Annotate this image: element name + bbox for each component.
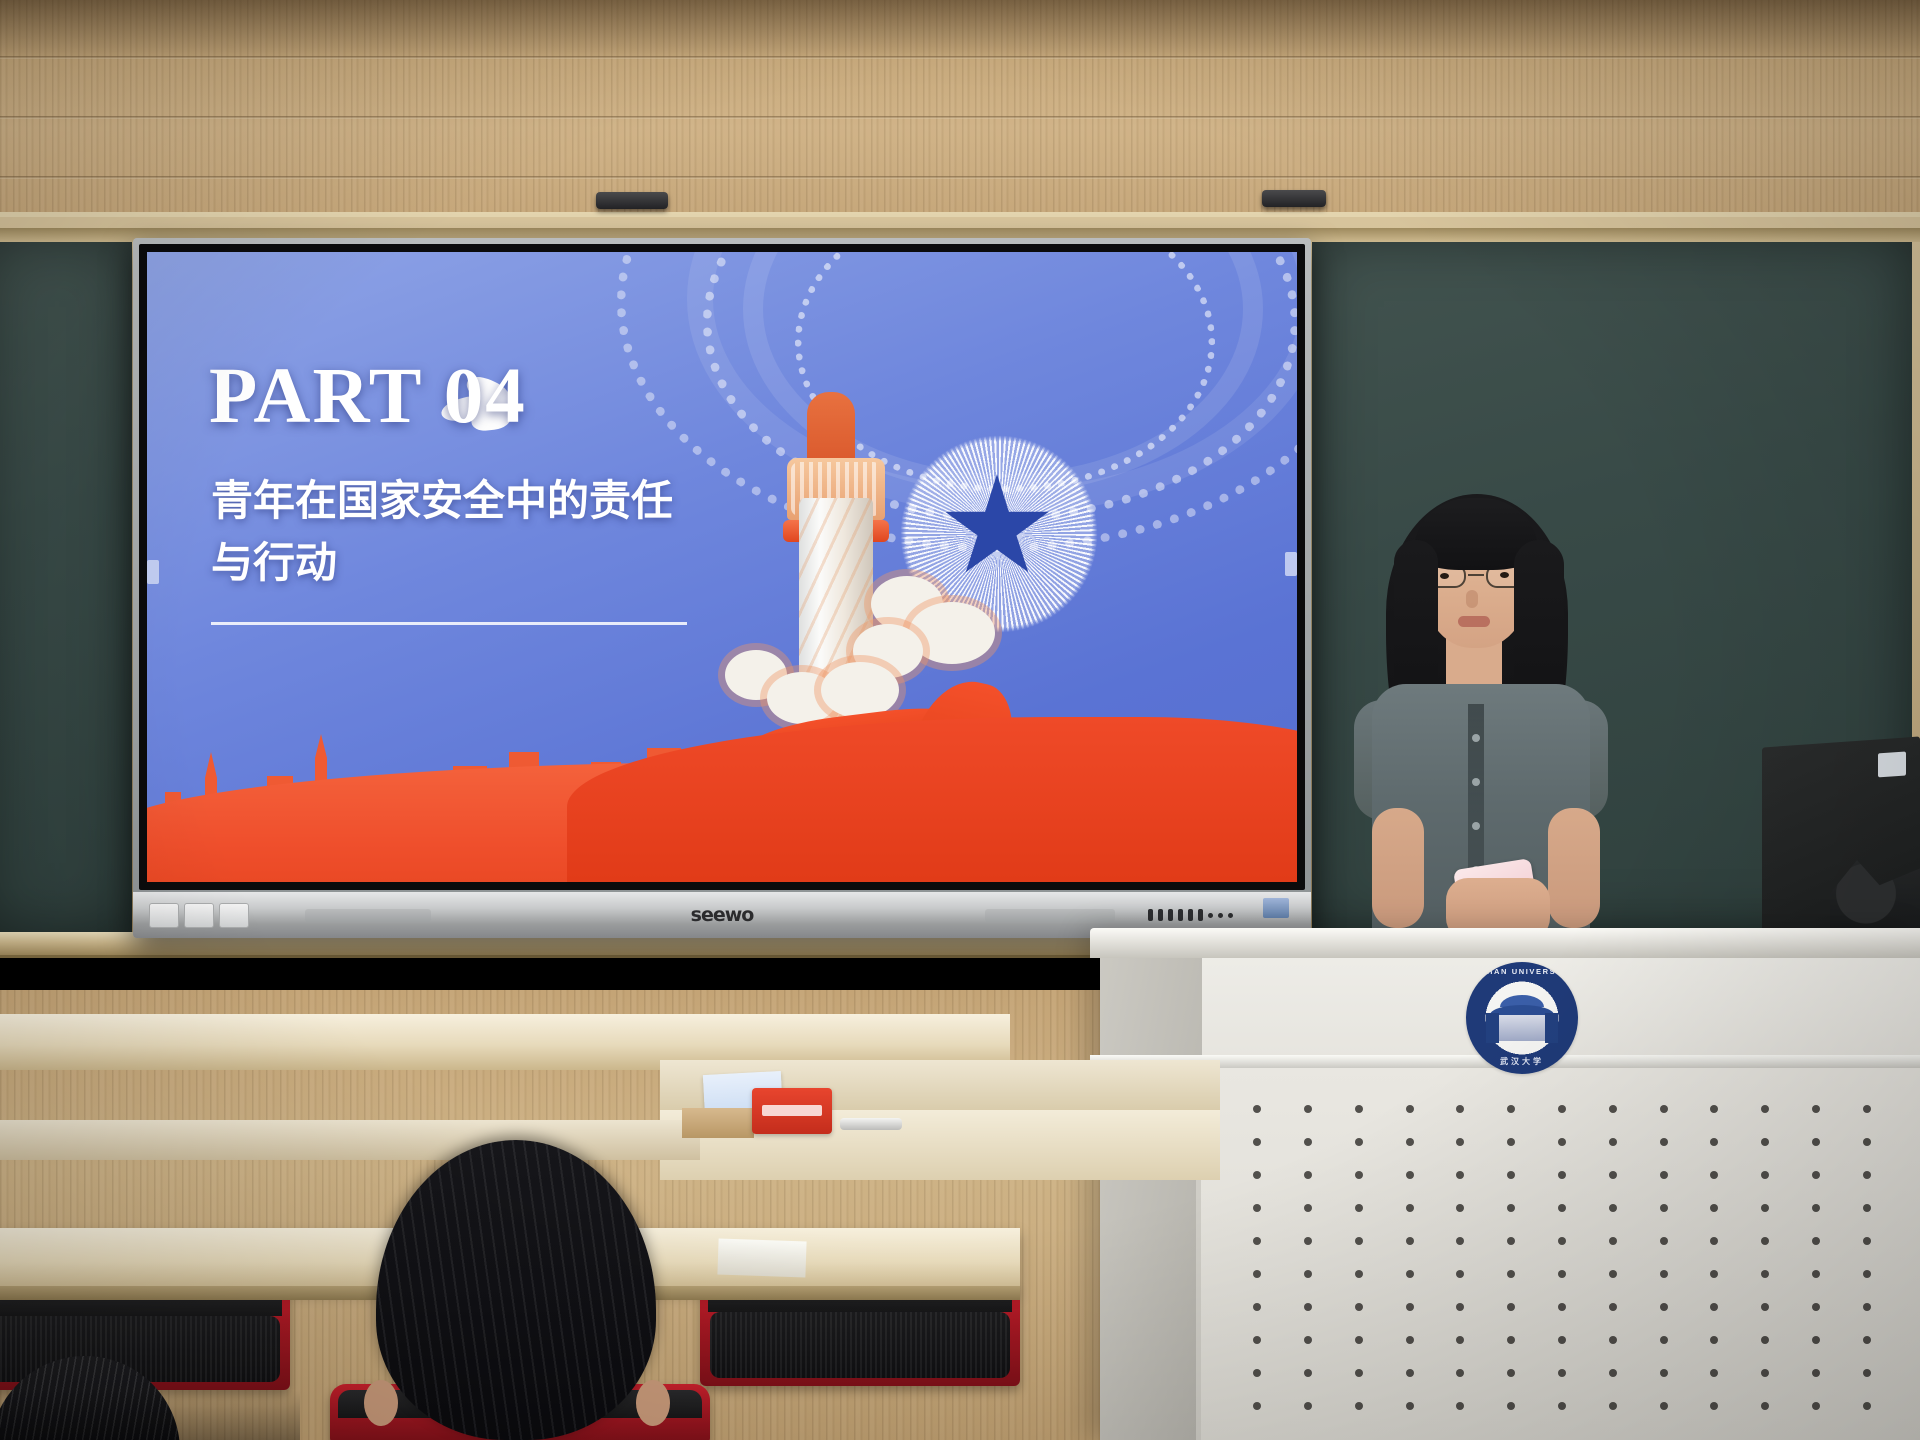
wall-seam-1: [0, 56, 1920, 59]
presenter-figure: [1310, 478, 1650, 948]
presenter-nose: [1466, 590, 1478, 608]
ceiling-shadow: [0, 0, 1920, 60]
city-skyline-silhouette: [147, 722, 1297, 882]
student-desk-shelf: [0, 1120, 700, 1160]
slide-subtitle: 青年在国家安全中的责任 与行动: [211, 470, 771, 594]
slide-divider-rule: [211, 622, 687, 625]
smartboard-button-1[interactable]: [149, 903, 179, 928]
shirt-button-2: [1472, 778, 1480, 786]
ceiling-mic-left: [596, 192, 668, 209]
smartboard-button-2[interactable]: [184, 903, 214, 928]
ir-sensor-strip-right: [985, 909, 1115, 922]
podium-top-surface: [1090, 928, 1920, 958]
university-gate-icon: [1486, 993, 1558, 1047]
seewo-brand-logo: seewo: [691, 904, 754, 926]
touch-marker-left: [147, 560, 159, 584]
red-book-box: [752, 1088, 832, 1134]
slide-title: PART 04: [209, 352, 527, 442]
slide-subtitle-line1: 青年在国家安全中的责任: [211, 470, 771, 532]
student-ear-right: [636, 1380, 670, 1426]
smartboard-button-group[interactable]: [149, 903, 249, 928]
presenter-forearm-left: [1372, 808, 1424, 928]
smartboard-bezel: PART 04 青年在国家安全中的责任 与行动: [139, 244, 1305, 890]
wuhan-university-logo: WUHAN UNIVERSITY 武汉大学: [1466, 962, 1578, 1074]
student-ear-left: [364, 1380, 398, 1426]
presenter-eye-right: [1500, 572, 1509, 578]
smartboard-screen[interactable]: PART 04 青年在国家安全中的责任 与行动: [147, 252, 1297, 882]
ir-sensor-strip-left: [305, 909, 431, 922]
cloud-6: [821, 662, 899, 718]
presenter-mouth: [1458, 616, 1490, 627]
podium-perforation-grid: [1232, 1092, 1892, 1422]
white-worksheet: [717, 1238, 806, 1277]
foreground-shadow: [0, 1390, 300, 1440]
presenter-eye-left: [1440, 573, 1449, 579]
emblem-text-top: WUHAN UNIVERSITY: [1466, 967, 1578, 976]
smartboard-button-3[interactable]: [219, 903, 249, 928]
cardboard-box: [682, 1108, 754, 1138]
white-pen: [840, 1118, 902, 1130]
power-indicator-icon[interactable]: [1263, 898, 1289, 918]
ceiling-mic-right: [1262, 190, 1326, 207]
emblem-text-bottom: 武汉大学: [1466, 1056, 1578, 1067]
classroom-photo-scene: PART 04 青年在国家安全中的责任 与行动 seewo: [0, 0, 1920, 1440]
wall-seam-2: [0, 116, 1920, 119]
touch-marker-right: [1285, 552, 1297, 576]
slide-subtitle-line2: 与行动: [211, 532, 771, 594]
interactive-smartboard[interactable]: PART 04 青年在国家安全中的责任 与行动 seewo: [133, 238, 1311, 938]
monitor-sticker: [1878, 751, 1906, 777]
chalkboard-left-panel: [0, 235, 132, 935]
speaker-grille: [1148, 909, 1233, 921]
shirt-button-1: [1472, 734, 1480, 742]
podium-left-side: [1100, 958, 1202, 1440]
wall-seam-3: [0, 176, 1920, 179]
presenter-forearm-right: [1548, 808, 1600, 928]
shirt-button-3: [1472, 822, 1480, 830]
